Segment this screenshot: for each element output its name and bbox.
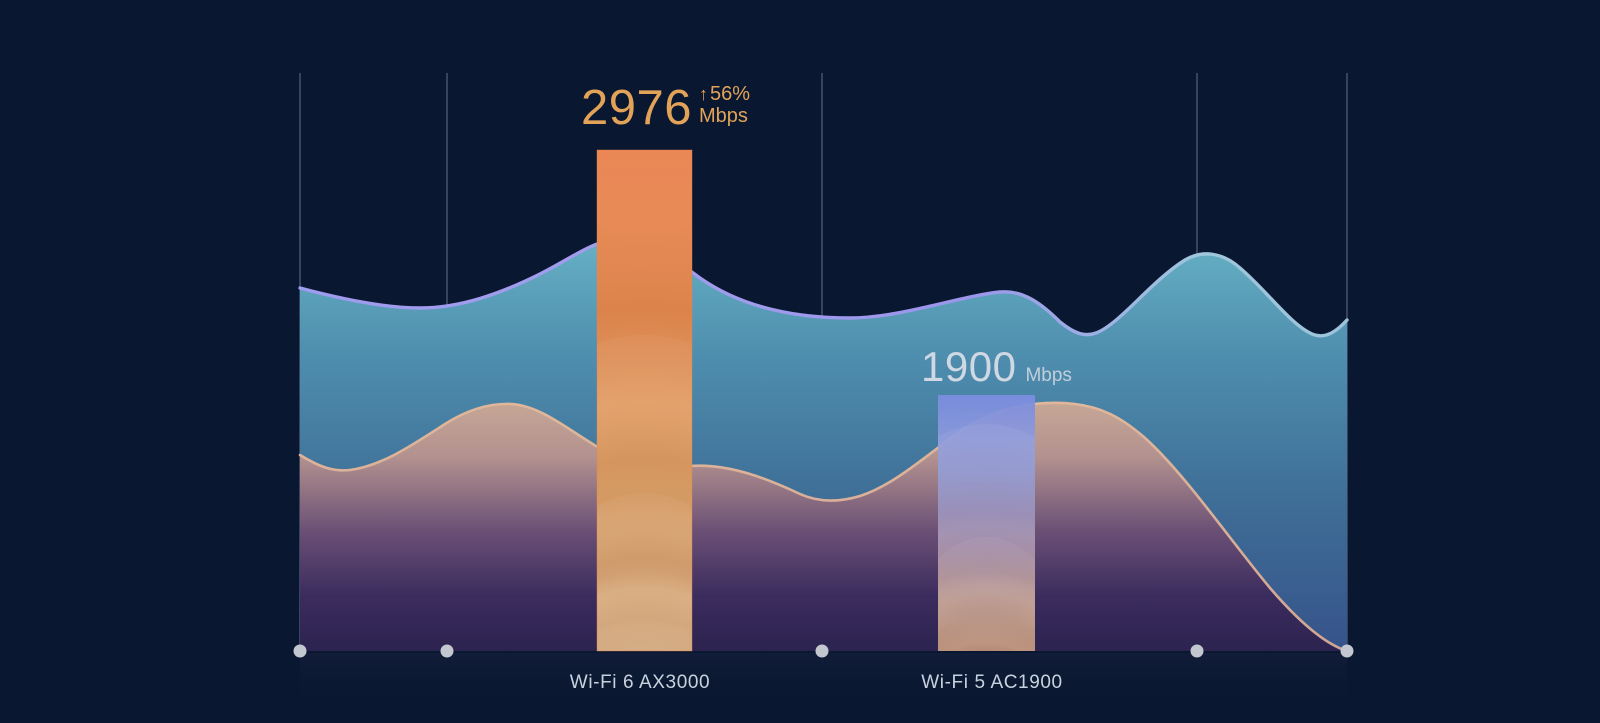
- axis-dot: [816, 645, 829, 658]
- axis-dot: [441, 645, 454, 658]
- chart-canvas: 2976↑56%Mbps 1900Mbps Wi-Fi 6 AX3000 Wi-…: [0, 0, 1600, 723]
- axis-dot: [1341, 645, 1354, 658]
- axis-dot: [1191, 645, 1204, 658]
- wifi-throughput-area-chart: [0, 0, 1600, 723]
- baseline-reflection: [300, 653, 1347, 711]
- axis-dot: [294, 645, 307, 658]
